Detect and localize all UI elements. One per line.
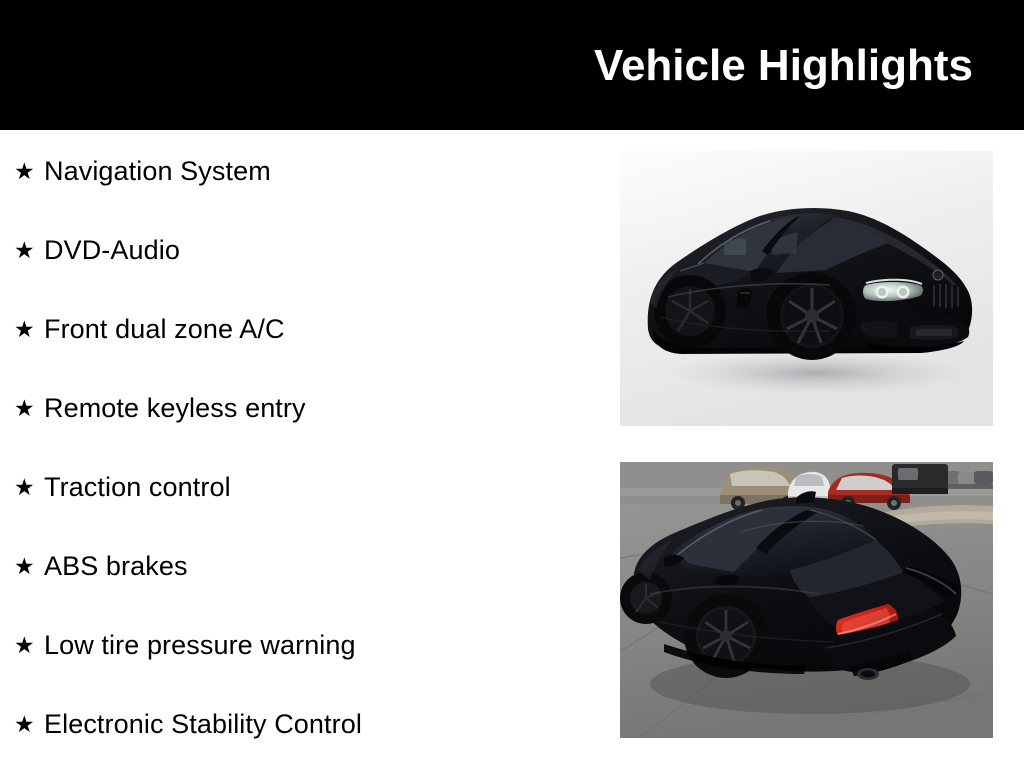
list-item: ★ Navigation System: [14, 153, 271, 189]
feature-label: DVD-Audio: [44, 234, 180, 266]
vehicle-photo-front-graphic: [620, 151, 993, 426]
star-bullet-icon: ★: [14, 235, 44, 265]
star-bullet-icon: ★: [14, 472, 44, 502]
star-bullet-icon: ★: [14, 156, 44, 186]
page-title: Vehicle Highlights: [594, 38, 973, 94]
vehicle-highlights-list: ★ Navigation System ★ DVD-Audio ★ Front …: [0, 131, 600, 768]
list-item: ★ Traction control: [14, 469, 231, 505]
list-item: ★ ABS brakes: [14, 548, 188, 584]
star-bullet-icon: ★: [14, 630, 44, 660]
star-bullet-icon: ★: [14, 314, 44, 344]
feature-label: ABS brakes: [44, 550, 188, 582]
star-bullet-icon: ★: [14, 709, 44, 739]
list-item: ★ Electronic Stability Control: [14, 706, 362, 742]
feature-label: Navigation System: [44, 155, 271, 187]
list-item: ★ Remote keyless entry: [14, 390, 306, 426]
list-item: ★ DVD-Audio: [14, 232, 180, 268]
vehicle-photo-rear: [620, 462, 993, 738]
feature-label: Low tire pressure warning: [44, 629, 356, 661]
list-item: ★ Front dual zone A/C: [14, 311, 285, 347]
feature-label: Remote keyless entry: [44, 392, 306, 424]
feature-label: Traction control: [44, 471, 231, 503]
star-bullet-icon: ★: [14, 551, 44, 581]
vehicle-photo-rear-graphic: [620, 462, 993, 738]
feature-label: Electronic Stability Control: [44, 708, 362, 740]
header-band: Vehicle Highlights: [0, 0, 1024, 130]
list-item: ★ Low tire pressure warning: [14, 627, 356, 663]
feature-label: Front dual zone A/C: [44, 313, 285, 345]
vehicle-photo-front: [620, 151, 993, 426]
star-bullet-icon: ★: [14, 393, 44, 423]
